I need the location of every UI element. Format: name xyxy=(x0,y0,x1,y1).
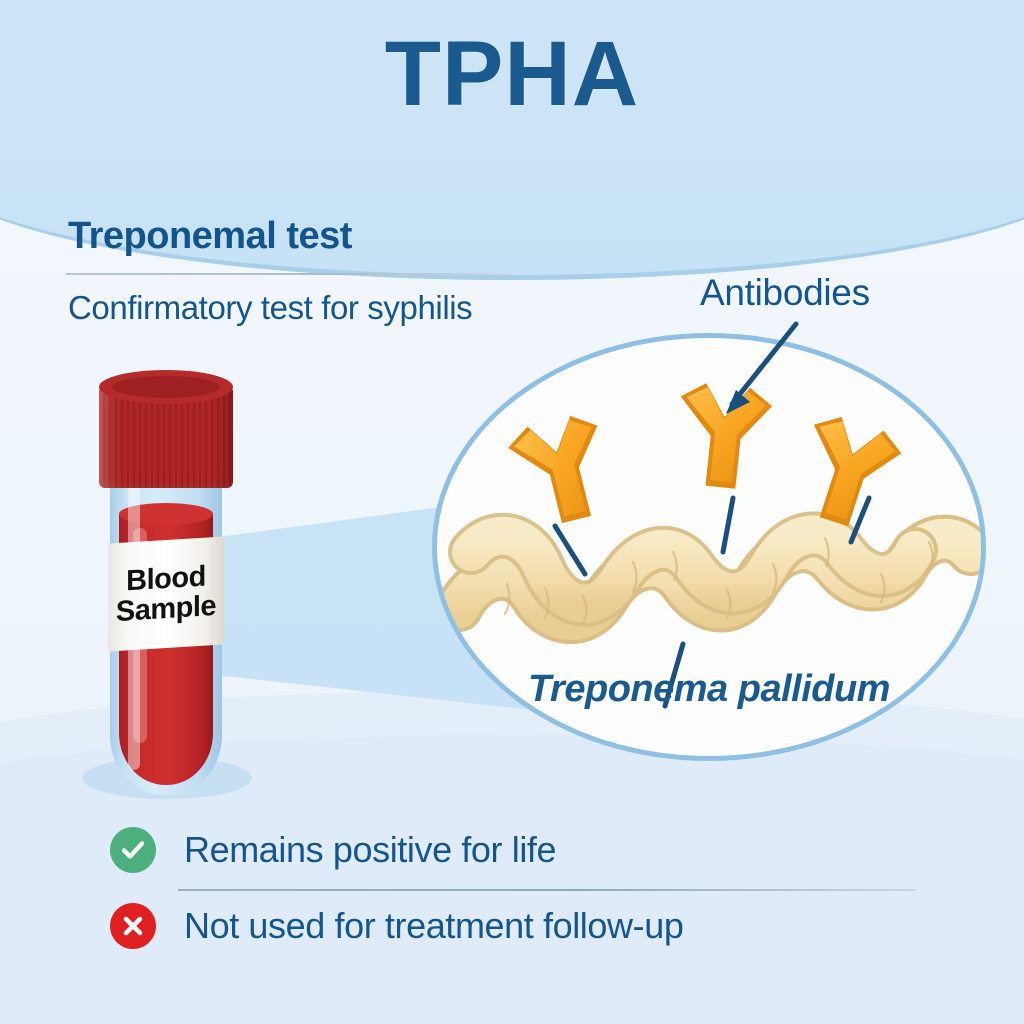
organism-name-label: Treponema pallidum xyxy=(432,668,986,711)
antibodies-callout-arrow xyxy=(690,318,820,433)
treponema-pallidum-organism xyxy=(459,534,971,624)
antibodies-callout-label: Antibodies xyxy=(700,272,870,314)
cross-glyph xyxy=(120,913,146,939)
section-heading: Treponemal test xyxy=(68,215,352,258)
tube-cap-top-inner xyxy=(112,376,220,398)
check-glyph xyxy=(120,837,146,863)
page-title: TPHA xyxy=(0,22,1024,127)
section-subheading: Confirmatory test for syphilis xyxy=(68,289,472,327)
bullet-remains-positive: Remains positive for life xyxy=(110,827,556,873)
bullet-label: Remains positive for life xyxy=(184,829,556,871)
blood-sample-label: Blood Sample xyxy=(108,536,224,651)
antibody-left xyxy=(504,410,618,531)
bullet-not-for-followup: Not used for treatment follow-up xyxy=(110,903,683,949)
blood-sample-label-line2: Sample xyxy=(116,591,216,628)
heading-divider xyxy=(66,273,514,275)
bullet-label: Not used for treatment follow-up xyxy=(184,905,683,947)
check-circle-icon xyxy=(110,827,156,873)
cross-circle-icon xyxy=(110,903,156,949)
bullet-divider xyxy=(178,889,916,891)
infographic-canvas: TPHA Treponemal test Confirmatory test f… xyxy=(0,0,1024,1024)
